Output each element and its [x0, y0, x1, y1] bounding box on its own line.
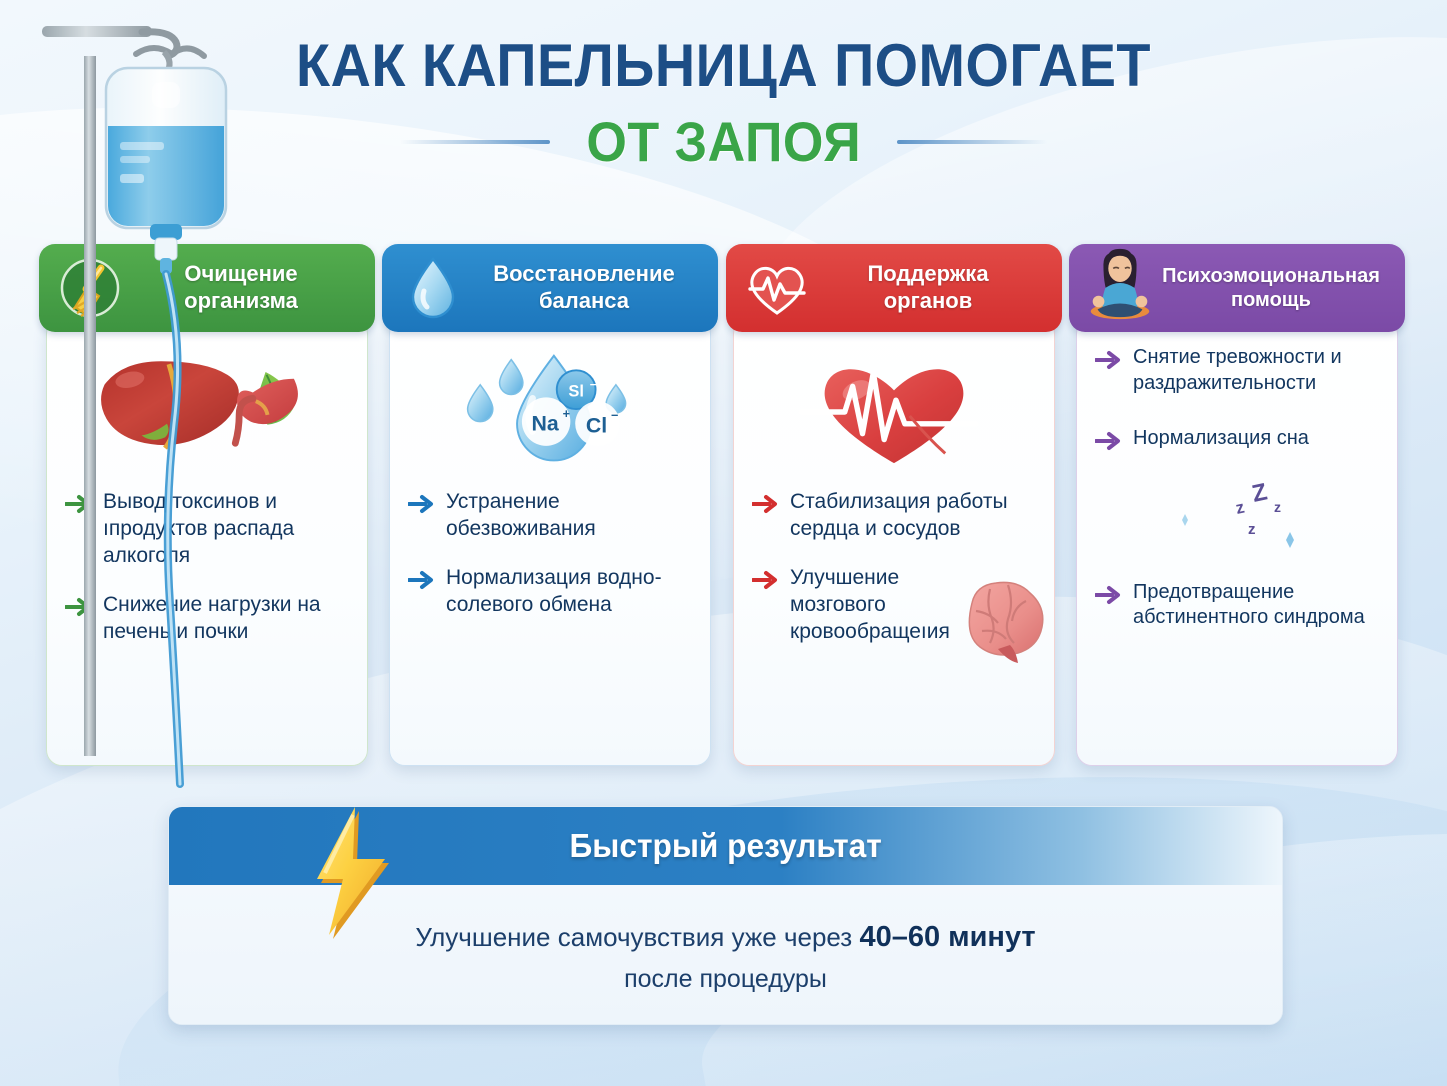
card-title-line1: Очищение	[184, 261, 297, 286]
arrow-right-icon	[752, 570, 778, 590]
fast-result-banner[interactable]: Быстрый результат Улучшение самочувствия…	[168, 806, 1283, 1025]
title-divider-right	[897, 140, 1047, 144]
bullet-list-psycho: Снятие тревожности и раздражительности Н…	[1093, 345, 1381, 631]
svg-text:Z: Z	[1250, 478, 1270, 507]
card-body-organs: Стабилизация работы сердца и сосудов Улу…	[733, 318, 1055, 766]
card-title-line2: помощь	[1231, 289, 1311, 311]
list-item-text: Устранение обезвоживания	[446, 489, 692, 543]
meditating-woman-icon	[1083, 251, 1157, 325]
list-item-text: Стабилизация работы сердца и сосудов	[790, 489, 1036, 543]
arrow-right-icon	[752, 494, 778, 514]
svg-text:z: z	[1248, 521, 1256, 538]
title-line-2: ОТ ЗАПОЯ	[586, 114, 861, 170]
list-item: Улучшение мозгового кровообращеıия	[752, 565, 1036, 646]
card-balance[interactable]: Восстановление баланса Sl	[389, 244, 711, 766]
heart-pulse-icon	[740, 251, 814, 325]
title-divider-left	[400, 140, 550, 144]
title-line-1: КАК КАПЕЛЬНИЦА ПОМОГАЕТ	[51, 36, 1397, 96]
svg-text:z: z	[1234, 497, 1246, 517]
card-title-psycho: Психоэмоциональная помощь	[1157, 264, 1391, 313]
card-title-line1: Восстановление	[493, 261, 674, 286]
card-title-line2: баланса	[539, 288, 629, 313]
broom-icon	[53, 251, 127, 325]
svg-text:Cl: Cl	[586, 413, 607, 437]
bullet-list-organs: Стабилизация работы сердца и сосудов Улу…	[750, 489, 1038, 645]
card-title-line1: Психоэмоциональная	[1162, 265, 1380, 287]
svg-text:z: z	[1274, 499, 1281, 515]
card-header-balance: Восстановление баланса	[382, 244, 718, 332]
list-item: Нормализация водно-солевого обмена	[408, 565, 692, 619]
card-header-organs: Поддержка органов	[726, 244, 1062, 332]
page-title: КАК КАПЕЛЬНИЦА ПОМОГАЕТ ОТ ЗАПОЯ	[0, 36, 1447, 170]
svg-text:Na: Na	[532, 411, 559, 435]
arrow-right-icon	[65, 597, 91, 617]
water-drop-icon	[396, 251, 470, 325]
card-title-cleansing: Очищение организма	[127, 261, 361, 315]
list-item-text: Снижение нагрузки на печень и почки	[103, 592, 349, 646]
list-item-text: Нормализация водно-солевого обмена	[446, 565, 692, 619]
svg-text:−: −	[611, 409, 618, 423]
liver-kidney-leaf-illustration	[63, 341, 351, 481]
card-title-line1: Поддержка	[867, 261, 988, 286]
svg-text:−: −	[590, 379, 597, 392]
list-item: Снижение нагрузки на печень и почки	[65, 592, 349, 646]
banner-text-prefix: Улучшение самочувствия уже через	[415, 922, 859, 952]
heart-ecg-illustration	[750, 341, 1038, 481]
list-item: Устранение обезвоживания	[408, 489, 692, 543]
arrow-right-icon	[65, 494, 91, 514]
arrow-right-icon	[1095, 350, 1121, 370]
card-header-cleansing: Очищение организма	[39, 244, 375, 332]
list-item: Стабилизация работы сердца и сосудов	[752, 489, 1036, 543]
list-item: Снятие тревожности и раздражительности	[1095, 345, 1379, 396]
card-organs[interactable]: Поддержка органов Стабилизация работы се…	[733, 244, 1055, 766]
card-body-balance: Sl − Na + Cl − Устранение обезвоживания …	[389, 318, 711, 766]
title-line-2-row: ОТ ЗАПОЯ	[0, 114, 1447, 170]
electrolyte-drops-illustration: Sl − Na + Cl −	[406, 341, 694, 481]
list-item: Вывод токсинов и ıпродуктов распада алко…	[65, 489, 349, 570]
card-title-organs: Поддержка органов	[814, 261, 1048, 315]
arrow-right-icon	[408, 494, 434, 514]
list-item-text: Вывод токсинов и ıпродуктов распада алко…	[103, 489, 349, 570]
sleeping-moon-icon: Z z z z	[1095, 468, 1379, 560]
lightning-bolt-icon	[299, 801, 395, 941]
brain-icon	[946, 573, 1058, 673]
card-header-psycho: Психоэмоциональная помощь	[1069, 244, 1405, 332]
bullet-list-cleansing: Вывод токсинов и ıпродуктов распада алко…	[63, 489, 351, 645]
banner-highlight: 40–60 минут	[859, 921, 1035, 953]
list-item-text: Нормализация сна	[1133, 426, 1309, 452]
banner-text-line2: после процедуры	[189, 965, 1262, 994]
banner-title: Быстрый результат	[569, 827, 881, 865]
svg-text:Sl: Sl	[568, 382, 584, 400]
card-body-cleansing: Вывод токсинов и ıпродуктов распада алко…	[46, 318, 368, 766]
list-item: Предотвращение абстинентного синдрома	[1095, 580, 1379, 631]
arrow-right-icon	[1095, 585, 1121, 605]
card-psycho[interactable]: Психоэмоциональная помощь Снятие тревожн…	[1076, 244, 1398, 766]
arrow-right-icon	[1095, 431, 1121, 451]
card-cleansing[interactable]: Очищение организма	[46, 244, 368, 766]
list-item-text: Снятие тревожности и раздражительности	[1133, 345, 1379, 396]
card-title-balance: Восстановление баланса	[470, 261, 704, 315]
list-item: Нормализация сна	[1095, 426, 1379, 452]
arrow-right-icon	[408, 570, 434, 590]
card-title-line2: организма	[184, 288, 298, 313]
card-title-line2: органов	[884, 288, 973, 313]
svg-text:+: +	[563, 407, 570, 421]
card-body-psycho: Снятие тревожности и раздражительности Н…	[1076, 318, 1398, 766]
list-item-text: Предотвращение абстинентного синдрома	[1133, 580, 1379, 631]
bullet-list-balance: Устранение обезвоживания Нормализация во…	[406, 489, 694, 619]
